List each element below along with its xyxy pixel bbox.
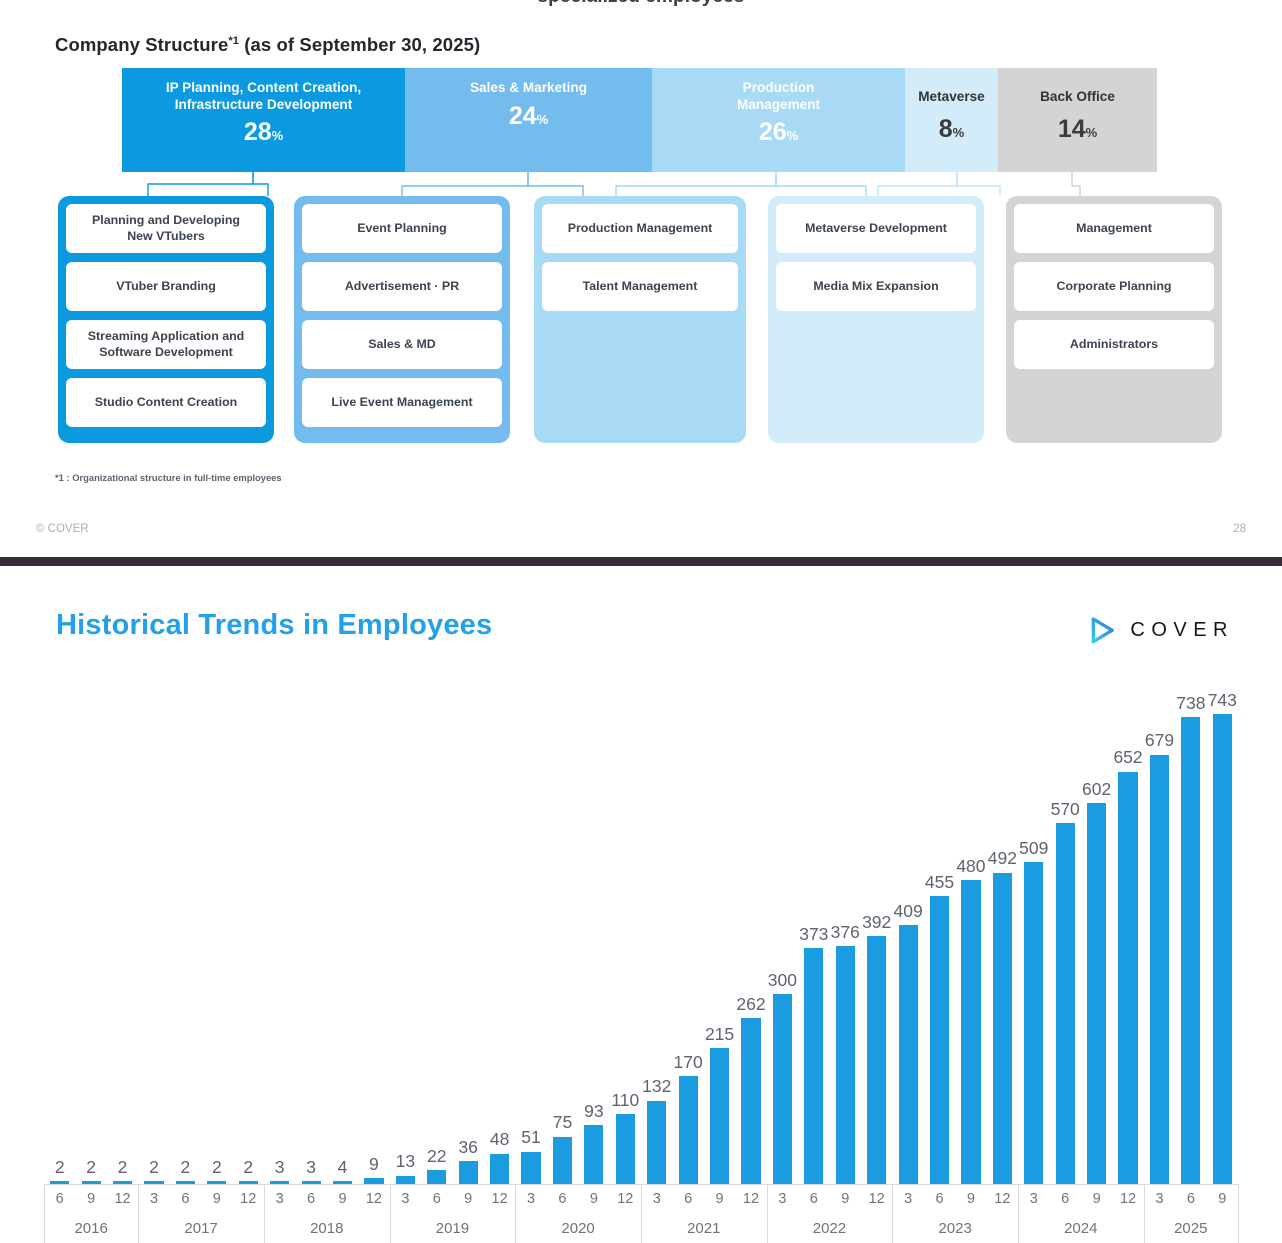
axis-month-tick: 9 xyxy=(704,1184,735,1214)
bar-item[interactable]: 509 xyxy=(1018,672,1049,1184)
bar-item[interactable]: 2 xyxy=(201,672,232,1184)
page-title-footnote-ref: *1 xyxy=(228,35,239,47)
bar-item[interactable]: 679 xyxy=(1144,672,1175,1184)
axis-year-label: 2021 xyxy=(641,1214,767,1243)
bar-rect[interactable] xyxy=(679,1076,698,1184)
bar-item[interactable]: 392 xyxy=(861,672,892,1184)
axis-month-tick: 6 xyxy=(798,1184,829,1214)
axis-year-separator xyxy=(767,1184,768,1243)
bar-value-label: 392 xyxy=(862,914,891,932)
bar-value-label: 652 xyxy=(1113,749,1142,767)
structure-item[interactable]: Media Mix Expansion xyxy=(776,262,976,311)
bar-item[interactable]: 51 xyxy=(515,672,546,1184)
bar-value-label: 570 xyxy=(1051,801,1080,819)
bar-item[interactable]: 9 xyxy=(358,672,389,1184)
axis-year-label: 2017 xyxy=(138,1214,264,1243)
structure-header-percent: 8% xyxy=(939,117,964,142)
bar-value-label: 262 xyxy=(736,996,765,1014)
bar-item[interactable]: 480 xyxy=(955,672,986,1184)
axis-month-tick: 6 xyxy=(1050,1184,1081,1214)
structure-group-1: Event PlanningAdvertisement · PRSales & … xyxy=(294,196,510,443)
bar-item[interactable]: 36 xyxy=(452,672,483,1184)
bar-item[interactable]: 743 xyxy=(1207,672,1238,1184)
bar-value-label: 2 xyxy=(181,1159,191,1177)
bar-value-label: 110 xyxy=(611,1092,639,1110)
page-number: 28 xyxy=(1233,523,1246,535)
bar-series: 2222222334913223648517593110132170215262… xyxy=(44,672,1238,1184)
axis-month-tick: 3 xyxy=(138,1184,169,1214)
bar-item[interactable]: 2 xyxy=(233,672,264,1184)
bar-rect[interactable] xyxy=(490,1154,509,1184)
bar-value-label: 48 xyxy=(490,1131,509,1149)
page-title-text: Company Structure xyxy=(55,34,228,55)
structure-header-label: IP Planning, Content Creation,Infrastruc… xyxy=(122,80,405,113)
bar-value-label: 409 xyxy=(893,903,922,921)
bar-value-label: 132 xyxy=(642,1078,671,1096)
axis-year-label: 2023 xyxy=(892,1214,1018,1243)
employee-bar-chart: 2222222334913223648517593110132170215262… xyxy=(44,672,1238,1184)
axis-year-label: 2025 xyxy=(1144,1214,1238,1243)
axis-month-tick: 3 xyxy=(390,1184,421,1214)
axis-month-tick: 12 xyxy=(610,1184,641,1214)
bar-value-label: 492 xyxy=(988,850,1017,868)
bar-item[interactable]: 13 xyxy=(390,672,421,1184)
axis-year-separator xyxy=(138,1184,139,1243)
structure-item[interactable]: Advertisement · PR xyxy=(302,262,502,311)
structure-header-3: Metaverse8% xyxy=(905,68,998,172)
bar-rect[interactable] xyxy=(993,873,1012,1184)
bar-value-label: 9 xyxy=(369,1156,379,1174)
bar-item[interactable]: 4 xyxy=(327,672,358,1184)
bar-value-label: 602 xyxy=(1082,781,1111,799)
slide-divider xyxy=(0,557,1282,566)
axis-month-tick: 3 xyxy=(892,1184,923,1214)
bar-rect[interactable] xyxy=(1118,772,1137,1184)
structure-header-4: Back Office14% xyxy=(998,68,1157,172)
axis-year-label: 2018 xyxy=(264,1214,390,1243)
structure-item[interactable]: Sales & MD xyxy=(302,320,502,369)
bar-rect[interactable] xyxy=(427,1170,446,1184)
bar-rect[interactable] xyxy=(1087,803,1106,1184)
axis-month-tick: 12 xyxy=(358,1184,389,1214)
bar-item[interactable]: 3 xyxy=(295,672,326,1184)
axis-month-tick: 6 xyxy=(170,1184,201,1214)
bar-item[interactable]: 2 xyxy=(107,672,138,1184)
bar-item[interactable]: 48 xyxy=(484,672,515,1184)
axis-month-tick: 6 xyxy=(44,1184,75,1214)
axis-month-tick: 12 xyxy=(987,1184,1018,1214)
structure-item[interactable]: Talent Management xyxy=(542,262,738,311)
bar-item[interactable]: 93 xyxy=(578,672,609,1184)
structure-group-0: Planning and DevelopingNew VTubersVTuber… xyxy=(58,196,274,443)
axis-month-tick: 9 xyxy=(75,1184,106,1214)
footnote: *1 : Organizational structure in full-ti… xyxy=(55,472,282,483)
axis-month-tick: 12 xyxy=(861,1184,892,1214)
axis-month-tick: 3 xyxy=(264,1184,295,1214)
slide-company-structure: specialized employees Company Structure*… xyxy=(0,0,1282,557)
bar-rect[interactable] xyxy=(616,1114,635,1184)
axis-year-label: 2019 xyxy=(390,1214,516,1243)
bar-rect[interactable] xyxy=(930,896,949,1184)
axis-month-tick: 6 xyxy=(421,1184,452,1214)
bar-value-label: 480 xyxy=(956,858,985,876)
bar-rect[interactable] xyxy=(553,1137,572,1184)
bar-rect[interactable] xyxy=(521,1152,540,1184)
bar-rect[interactable] xyxy=(1181,717,1200,1184)
bar-value-label: 4 xyxy=(338,1159,348,1177)
axis-month-tick: 12 xyxy=(1112,1184,1143,1214)
bar-item[interactable]: 570 xyxy=(1050,672,1081,1184)
bar-rect[interactable] xyxy=(647,1101,666,1184)
structure-group-2: Production ManagementTalent Management xyxy=(534,196,746,443)
bar-value-label: 743 xyxy=(1208,692,1237,710)
axis-month-tick: 9 xyxy=(830,1184,861,1214)
bar-value-label: 170 xyxy=(674,1054,703,1072)
bar-rect[interactable] xyxy=(710,1048,729,1184)
structure-header-2: ProductionManagement26% xyxy=(652,68,905,172)
structure-item[interactable]: Planning and DevelopingNew VTubers xyxy=(66,204,266,253)
bar-value-label: 509 xyxy=(1019,840,1048,858)
bar-item[interactable]: 2 xyxy=(138,672,169,1184)
bar-value-label: 2 xyxy=(118,1159,128,1177)
bar-item[interactable]: 492 xyxy=(987,672,1018,1184)
bar-rect[interactable] xyxy=(961,880,980,1184)
cover-wordmark: COVER xyxy=(1130,619,1234,642)
bar-rect[interactable] xyxy=(899,925,918,1184)
axis-month-tick: 6 xyxy=(924,1184,955,1214)
axis-month-tick: 3 xyxy=(515,1184,546,1214)
structure-header-label: Sales & Marketing xyxy=(405,80,652,97)
bar-item[interactable]: 373 xyxy=(798,672,829,1184)
bar-item[interactable]: 3 xyxy=(264,672,295,1184)
structure-header-percent: 28% xyxy=(244,120,283,145)
bar-value-label: 2 xyxy=(243,1159,253,1177)
axis-year-separator xyxy=(641,1184,642,1243)
bar-value-label: 13 xyxy=(396,1153,415,1171)
bar-item[interactable]: 652 xyxy=(1112,672,1143,1184)
axis-month-tick: 9 xyxy=(452,1184,483,1214)
bar-item[interactable]: 132 xyxy=(641,672,672,1184)
bar-rect[interactable] xyxy=(1213,714,1232,1184)
structure-header-percent: 24% xyxy=(509,104,548,129)
structure-item[interactable]: Event Planning xyxy=(302,204,502,253)
structure-item[interactable]: Streaming Application andSoftware Develo… xyxy=(66,320,266,369)
axis-month-tick: 3 xyxy=(1144,1184,1175,1214)
chart-title: Historical Trends in Employees xyxy=(56,609,492,642)
bar-value-label: 215 xyxy=(705,1026,734,1044)
copyright-text: © COVER xyxy=(36,523,89,535)
bar-value-label: 2 xyxy=(86,1159,96,1177)
bar-item[interactable]: 376 xyxy=(830,672,861,1184)
bar-value-label: 2 xyxy=(55,1159,65,1177)
bar-item[interactable]: 262 xyxy=(735,672,766,1184)
bar-rect[interactable] xyxy=(396,1176,415,1184)
axis-month-tick: 9 xyxy=(955,1184,986,1214)
axis-month-tick: 12 xyxy=(233,1184,264,1214)
bar-rect[interactable] xyxy=(459,1161,478,1184)
bar-value-label: 93 xyxy=(584,1103,603,1121)
bar-item[interactable]: 455 xyxy=(924,672,955,1184)
axis-month-tick: 6 xyxy=(1175,1184,1206,1214)
structure-item[interactable]: Management xyxy=(1014,204,1214,253)
bar-rect[interactable] xyxy=(1024,862,1043,1184)
structure-item[interactable]: Studio Content Creation xyxy=(66,378,266,427)
bar-item[interactable]: 300 xyxy=(767,672,798,1184)
structure-group-4: ManagementCorporate PlanningAdministrato… xyxy=(1006,196,1222,443)
structure-item[interactable]: Production Management xyxy=(542,204,738,253)
axis-month-tick: 12 xyxy=(107,1184,138,1214)
axis-year-label: 2024 xyxy=(1018,1214,1144,1243)
cut-off-heading: specialized employees xyxy=(0,0,1282,8)
bar-value-label: 455 xyxy=(925,874,954,892)
bar-value-label: 3 xyxy=(275,1159,285,1177)
bar-value-label: 3 xyxy=(306,1159,316,1177)
bar-rect[interactable] xyxy=(1056,823,1075,1184)
left-edge-mask xyxy=(0,0,8,557)
axis-year-separator xyxy=(44,1184,45,1243)
axis-month-tick: 3 xyxy=(767,1184,798,1214)
structure-group-3: Metaverse DevelopmentMedia Mix Expansion xyxy=(768,196,984,443)
presentation-page: specialized employees Company Structure*… xyxy=(0,0,1282,1243)
bar-value-label: 373 xyxy=(799,926,828,944)
bar-value-label: 300 xyxy=(768,972,797,990)
axis-year-separator xyxy=(264,1184,265,1243)
bar-value-label: 51 xyxy=(521,1129,540,1147)
page-title-date: (as of September 30, 2025) xyxy=(239,34,480,55)
axis-year-separator xyxy=(1144,1184,1145,1243)
bar-rect[interactable] xyxy=(836,946,855,1184)
page-title: Company Structure*1 (as of September 30,… xyxy=(55,34,480,56)
bar-item[interactable]: 2 xyxy=(44,672,75,1184)
bar-rect[interactable] xyxy=(773,994,792,1184)
structure-groups: Planning and DevelopingNew VTubersVTuber… xyxy=(0,196,1282,443)
bar-item[interactable]: 22 xyxy=(421,672,452,1184)
axis-year-separator xyxy=(515,1184,516,1243)
bar-item[interactable]: 2 xyxy=(75,672,106,1184)
bar-value-label: 679 xyxy=(1145,732,1174,750)
structure-header-0: IP Planning, Content Creation,Infrastruc… xyxy=(122,68,405,172)
bar-item[interactable]: 2 xyxy=(170,672,201,1184)
bar-item[interactable]: 738 xyxy=(1175,672,1206,1184)
structure-header-band: IP Planning, Content Creation,Infrastruc… xyxy=(122,68,1157,172)
axis-month-tick: 3 xyxy=(1018,1184,1049,1214)
bar-rect[interactable] xyxy=(804,948,823,1184)
structure-header-label: ProductionManagement xyxy=(652,80,905,113)
axis-month-tick: 6 xyxy=(295,1184,326,1214)
bar-value-label: 376 xyxy=(831,924,860,942)
bar-item[interactable]: 170 xyxy=(672,672,703,1184)
right-edge-mask xyxy=(1274,0,1282,557)
structure-header-label: Metaverse xyxy=(905,89,998,106)
bar-item[interactable]: 409 xyxy=(892,672,923,1184)
bar-item[interactable]: 110 xyxy=(610,672,641,1184)
structure-header-percent: 26% xyxy=(759,120,798,145)
axis-month-tick: 6 xyxy=(547,1184,578,1214)
chart-x-axis: 6912369123691236912369123691236912369123… xyxy=(44,1184,1238,1243)
bar-rect[interactable] xyxy=(741,1018,760,1184)
bar-rect[interactable] xyxy=(1150,755,1169,1185)
bar-value-label: 2 xyxy=(149,1159,159,1177)
axis-year-separator xyxy=(892,1184,893,1243)
bar-item[interactable]: 602 xyxy=(1081,672,1112,1184)
axis-month-tick: 12 xyxy=(735,1184,766,1214)
axis-month-tick: 9 xyxy=(578,1184,609,1214)
structure-item[interactable]: Live Event Management xyxy=(302,378,502,427)
axis-year-label: 2016 xyxy=(44,1214,138,1243)
bar-value-label: 2 xyxy=(212,1159,222,1177)
axis-year-label: 2022 xyxy=(767,1214,893,1243)
axis-year-label: 2020 xyxy=(515,1214,641,1243)
axis-month-tick: 9 xyxy=(1081,1184,1112,1214)
bar-value-label: 36 xyxy=(458,1139,477,1157)
bar-rect[interactable] xyxy=(584,1125,603,1184)
axis-year-separator xyxy=(1018,1184,1019,1243)
axis-month-tick: 3 xyxy=(641,1184,672,1214)
axis-year-separator xyxy=(1238,1184,1239,1243)
axis-month-tick: 6 xyxy=(672,1184,703,1214)
structure-item[interactable]: VTuber Branding xyxy=(66,262,266,311)
bar-value-label: 75 xyxy=(553,1114,572,1132)
bar-item[interactable]: 215 xyxy=(704,672,735,1184)
bar-item[interactable]: 75 xyxy=(547,672,578,1184)
structure-item[interactable]: Corporate Planning xyxy=(1014,262,1214,311)
bar-value-label: 738 xyxy=(1176,695,1205,713)
axis-month-tick: 9 xyxy=(201,1184,232,1214)
structure-header-1: Sales & Marketing24% xyxy=(405,68,652,172)
axis-month-tick: 9 xyxy=(1207,1184,1238,1214)
structure-header-label: Back Office xyxy=(998,89,1157,106)
structure-item[interactable]: Administrators xyxy=(1014,320,1214,369)
cover-logo: COVER xyxy=(1087,615,1234,646)
bar-rect[interactable] xyxy=(867,936,886,1184)
structure-header-percent: 14% xyxy=(1058,117,1097,142)
axis-month-tick: 9 xyxy=(327,1184,358,1214)
play-triangle-icon xyxy=(1087,615,1118,646)
axis-month-tick: 12 xyxy=(484,1184,515,1214)
axis-year-separator xyxy=(390,1184,391,1243)
bar-value-label: 22 xyxy=(427,1148,446,1166)
structure-item[interactable]: Metaverse Development xyxy=(776,204,976,253)
